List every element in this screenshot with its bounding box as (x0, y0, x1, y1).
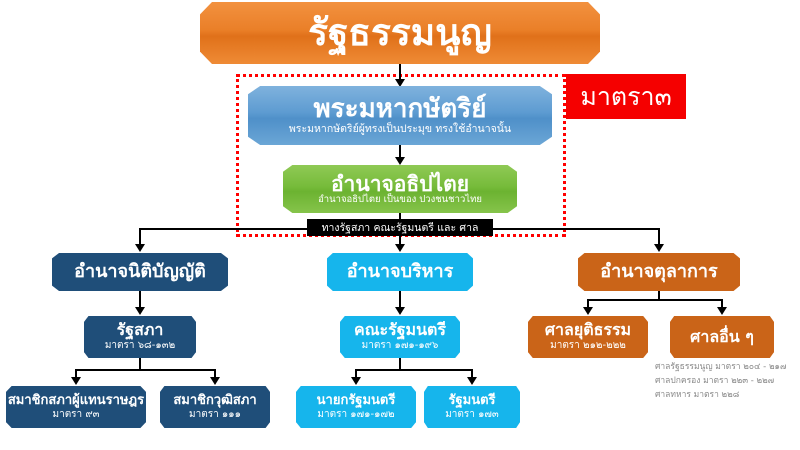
arrowhead-senator (210, 377, 220, 385)
node-members-house-of-representatives-title: สมาชิกสภาผู้แทนราษฎร (8, 394, 144, 408)
arrowhead-courts-justice (583, 307, 593, 315)
footnote-list: ศาลรัฐธรรมนูญ มาตรา ๒๐๔ - ๒๑๗ ศาลปกครอง … (655, 361, 800, 402)
node-minister-articles: มาตรา ๑๗๓ (445, 410, 499, 421)
node-constitution[interactable]: รัฐธรรมนูญ (200, 2, 600, 64)
arrowhead-cabinet (395, 307, 405, 315)
arrowhead-executive (395, 244, 405, 252)
arrowhead-king (395, 79, 405, 87)
node-courts-of-justice[interactable]: ศาลยุติธรรม มาตรา ๒๑๒-๒๒๒ (528, 316, 648, 358)
node-executive-power[interactable]: อำนาจบริหาร (327, 253, 473, 291)
node-judicial-power-title: อำนาจตุลาการ (600, 263, 717, 282)
node-cabinet-title: คณะรัฐมนตรี (354, 322, 446, 339)
node-other-courts[interactable]: ศาลอื่น ๆ (670, 316, 774, 358)
cabinet-bus (355, 369, 472, 371)
node-courts-of-justice-title: ศาลยุติธรรม (545, 322, 631, 339)
connector-executive-cabinet (399, 291, 401, 308)
node-executive-power-title: อำนาจบริหาร (347, 263, 454, 282)
node-legislative-power[interactable]: อำนาจนิติบัญญัติ (52, 253, 228, 291)
node-king-subtitle: พระมหากษัตริย์ผู้ทรงเป็นประมุข ทรงใช้อำน… (289, 124, 511, 135)
node-judicial-power[interactable]: อำนาจตุลาการ (578, 253, 740, 291)
courts-bus (587, 299, 723, 301)
footnote-item: ศาลรัฐธรรมนูญ มาตรา ๒๐๔ - ๒๑๗ (655, 361, 800, 375)
node-constitution-title: รัฐธรรมนูญ (308, 14, 492, 53)
arrowhead-legislative (135, 244, 145, 252)
footnote-item: ศาลทหาร มาตรา ๒๒๘ (655, 389, 800, 403)
diagram-canvas: รัฐธรรมนูญ พระมหากษัตริย์ พระมหากษัตริย์… (0, 0, 800, 450)
node-parliament[interactable]: รัฐสภา มาตรา ๖๘-๑๓๒ (84, 316, 196, 358)
arrowhead-mp (71, 377, 81, 385)
node-sovereignty-title: อำนาจอธิปไตย (331, 173, 469, 195)
connector-bus-judicial (658, 228, 660, 245)
node-parliament-articles: มาตรา ๖๘-๑๓๒ (105, 341, 175, 352)
node-prime-minister[interactable]: นายกรัฐมนตรี มาตรา ๑๗๑-๑๗๒ (296, 386, 416, 428)
node-prime-minister-title: นายกรัฐมนตรี (317, 394, 396, 408)
arrowhead-parliament (135, 307, 145, 315)
footnote-item: ศาลปกครอง มาตรา ๒๒๓ - ๒๒๗ (655, 375, 800, 389)
section3-badge: มาตรา๓ (566, 74, 686, 119)
arrowhead-pm (351, 377, 361, 385)
node-king-title: พระมหากษัตริย์ (314, 96, 487, 123)
node-minister[interactable]: รัฐมนตรี มาตรา ๑๗๓ (424, 386, 520, 428)
via-label-bar: ทางรัฐสภา คณะรัฐมนตรี และ ศาล (307, 219, 493, 236)
node-members-house-of-representatives[interactable]: สมาชิกสภาผู้แทนราษฎร มาตรา ๙๓ (6, 386, 146, 428)
arrowhead-minister (467, 377, 477, 385)
node-sovereignty-subtitle: อำนาจอธิปไตย เป็นของ ปวงชนชาวไทย (318, 195, 482, 205)
connector-legislative-parliament (139, 291, 141, 308)
node-minister-title: รัฐมนตรี (448, 394, 495, 408)
arrowhead-other-courts (717, 307, 727, 315)
node-prime-minister-articles: มาตรา ๑๗๑-๑๗๒ (317, 410, 394, 421)
arrowhead-sovereignty (395, 157, 405, 165)
node-parliament-title: รัฐสภา (117, 322, 164, 339)
parliament-bus (75, 369, 215, 371)
node-members-house-of-representatives-articles: มาตรา ๙๓ (52, 410, 99, 421)
node-king[interactable]: พระมหากษัตริย์ พระมหากษัตริย์ผู้ทรงเป็นป… (248, 86, 552, 145)
node-senators-articles: มาตรา ๑๑๑ (189, 410, 241, 421)
node-senators-title: สมาชิกวุฒิสภา (173, 394, 256, 408)
connector-bus-legislative (139, 228, 141, 245)
node-cabinet-articles: มาตรา ๑๗๑-๑๙๖ (362, 341, 439, 352)
node-other-courts-title: ศาลอื่น ๆ (690, 329, 754, 346)
node-legislative-power-title: อำนาจนิติบัญญัติ (74, 263, 206, 282)
arrowhead-judicial (654, 244, 664, 252)
connector-constitution-king (399, 64, 401, 80)
node-cabinet[interactable]: คณะรัฐมนตรี มาตรา ๑๗๑-๑๙๖ (340, 316, 460, 358)
node-senators[interactable]: สมาชิกวุฒิสภา มาตรา ๑๑๑ (160, 386, 270, 428)
node-sovereignty[interactable]: อำนาจอธิปไตย อำนาจอธิปไตย เป็นของ ปวงชนช… (283, 165, 517, 213)
node-courts-of-justice-articles: มาตรา ๒๑๒-๒๒๒ (550, 341, 626, 352)
